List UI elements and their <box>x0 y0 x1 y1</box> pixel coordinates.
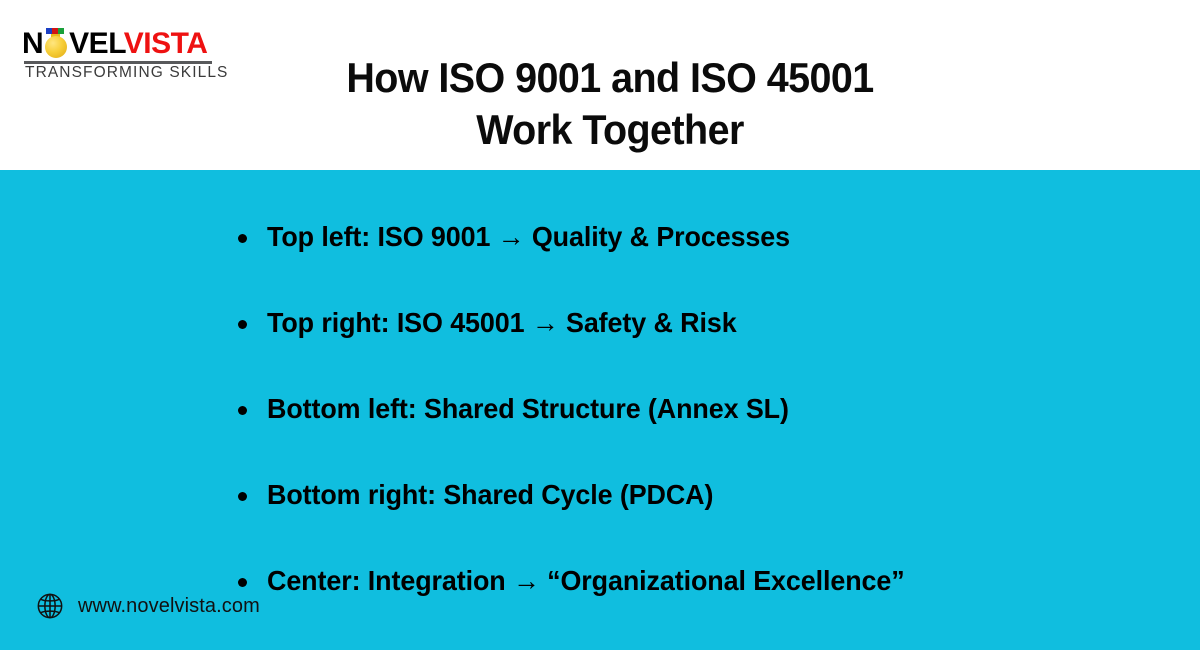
flag-green <box>58 28 64 34</box>
medal-orb-icon <box>45 36 67 58</box>
page-title-line-1: How ISO 9001 and ISO 45001 <box>272 52 949 104</box>
orb-flags-icon <box>46 28 66 34</box>
page-title: How ISO 9001 and ISO 45001 Work Together <box>272 52 949 156</box>
content-panel: Top left: ISO 9001 → Quality & Processes… <box>0 170 1200 650</box>
logo-wordmark: NVELVISTA <box>22 28 214 60</box>
globe-icon <box>36 592 64 620</box>
bullet-list: Top left: ISO 9001 → Quality & Processes… <box>232 194 1132 624</box>
list-item: Top right: ISO 45001 → Safety & Risk <box>232 280 1132 366</box>
page-title-line-2: Work Together <box>272 104 949 156</box>
logo-word-part-1: N <box>22 27 43 60</box>
list-item: Top left: ISO 9001 → Quality & Processes <box>232 194 1132 280</box>
header-bar: NVELVISTA TRANSFORMING SKILLS How ISO 90… <box>0 0 1200 170</box>
bullet-text: Bottom left: Shared Structure (Annex SL) <box>267 366 789 452</box>
bullet-text: Top right: ISO 45001 → Safety & Risk <box>267 280 737 366</box>
logo-word-part-2: VEL <box>69 27 124 60</box>
bullet-text: Center: Integration → “Organizational Ex… <box>267 538 905 624</box>
list-item: Bottom right: Shared Cycle (PDCA) <box>232 452 1132 538</box>
logo-orb-slot <box>43 28 69 60</box>
footer: www.novelvista.com <box>36 592 260 620</box>
bullet-text: Bottom right: Shared Cycle (PDCA) <box>267 452 713 538</box>
bullet-text: Top left: ISO 9001 → Quality & Processes <box>267 194 790 280</box>
bullet-dot-icon <box>238 578 247 587</box>
bullet-dot-icon <box>238 320 247 329</box>
list-item: Bottom left: Shared Structure (Annex SL) <box>232 366 1132 452</box>
logo-tagline: TRANSFORMING SKILLS <box>25 64 215 82</box>
bullet-dot-icon <box>238 492 247 501</box>
logo-word-part-3: VISTA <box>124 27 208 60</box>
novelvista-logo: NVELVISTA TRANSFORMING SKILLS <box>22 28 214 82</box>
list-item: Center: Integration → “Organizational Ex… <box>232 538 1132 624</box>
footer-url[interactable]: www.novelvista.com <box>78 595 260 618</box>
bullet-dot-icon <box>238 234 247 243</box>
slide-canvas: NVELVISTA TRANSFORMING SKILLS How ISO 90… <box>0 0 1200 650</box>
bullet-dot-icon <box>238 406 247 415</box>
